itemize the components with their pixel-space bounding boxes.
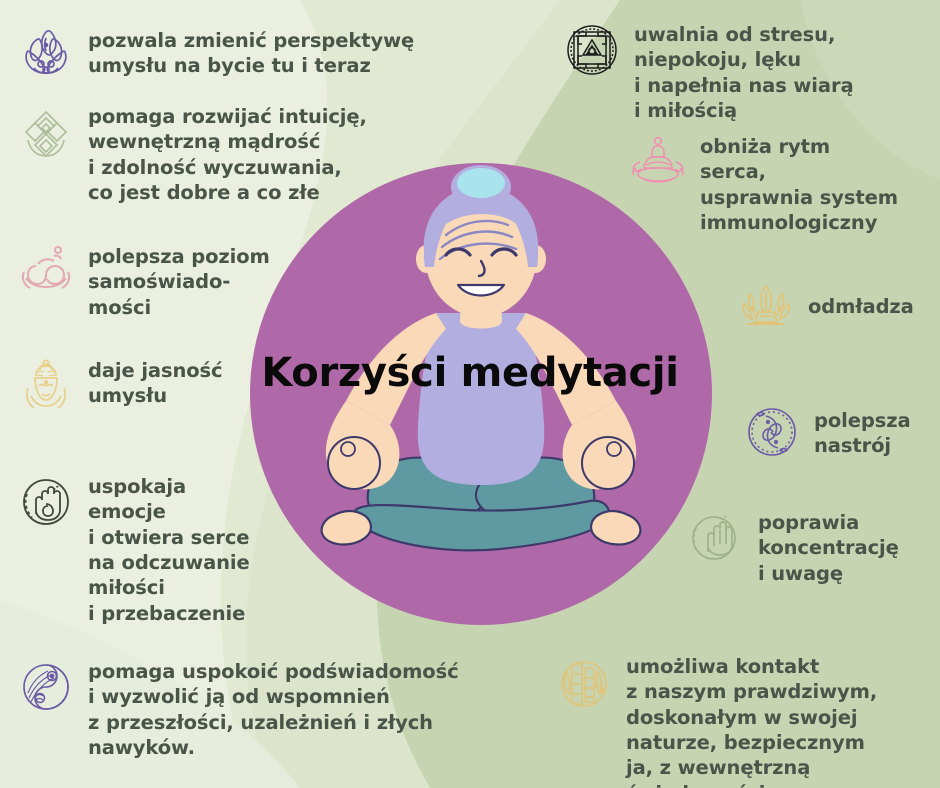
yin-yang-icon (14, 655, 78, 719)
benefit-text-5: uspokaja emocje i otwiera serce na odczu… (88, 470, 250, 626)
benefit-text-9: odmładza (808, 276, 914, 319)
benefit-text-3: polepsza poziom samoświado- mości (88, 238, 270, 320)
healing-hand-icon (14, 470, 78, 534)
open-hand-icon (684, 506, 748, 570)
benefit-item-9: odmładza (734, 276, 914, 340)
left-thumb (341, 442, 355, 456)
om-icon (14, 238, 78, 302)
praying-hands-leaves-icon (734, 276, 798, 340)
benefit-item-12: umożliwa kontakt z naszym prawdziwym, do… (552, 652, 877, 788)
benefit-item-8: obniża rytm serca, usprawnia system immu… (626, 132, 898, 235)
hair-bun-highlight (457, 168, 505, 198)
benefit-text-12: umożliwa kontakt z naszym prawdziwym, do… (626, 652, 877, 788)
benefit-text-8: obniża rytm serca, usprawnia system immu… (700, 132, 898, 235)
benefit-item-11: poprawia koncentrację i uwagę (684, 506, 899, 586)
benefit-text-11: poprawia koncentrację i uwagę (758, 506, 899, 586)
benefit-text-10: polepsza nastrój (814, 400, 911, 459)
koi-fish-circle-icon (740, 400, 804, 464)
yantra-mandala-icon (560, 18, 624, 82)
infographic-poster: Korzyści medytacji pozwala zmienić persp… (0, 0, 940, 788)
benefit-text-6: pomaga uspokoić podświadomość i wyzwolić… (88, 655, 459, 760)
benefit-text-2: pomaga rozwijać intuicję, wewnętrzną mąd… (88, 100, 367, 205)
benefit-item-2: pomaga rozwijać intuicję, wewnętrzną mąd… (14, 100, 367, 205)
benefit-item-10: polepsza nastrój (740, 400, 911, 464)
left-foot (322, 511, 371, 544)
meditating-figure-icon (626, 132, 690, 196)
endless-knot-icon (14, 100, 78, 164)
lotus-icon (14, 22, 78, 86)
benefit-item-5: uspokaja emocje i otwiera serce na odczu… (14, 470, 250, 626)
right-thumb (607, 442, 621, 456)
benefit-item-7: uwalnia od stresu, niepokoju, lęku i nap… (560, 18, 854, 123)
benefit-text-7: uwalnia od stresu, niepokoju, lęku i nap… (634, 18, 854, 123)
benefit-item-1: pozwala zmienić perspektywę umysłu na by… (14, 22, 414, 86)
right-foot (591, 511, 640, 544)
page-title: Korzyści medytacji (0, 350, 940, 396)
benefit-item-6: pomaga uspokoić podświadomość i wyzwolić… (14, 655, 459, 760)
benefit-item-3: polepsza poziom samoświado- mości (14, 238, 270, 320)
benefit-text-1: pozwala zmienić perspektywę umysłu na by… (88, 22, 414, 79)
bamboo-circle-icon (552, 652, 616, 716)
